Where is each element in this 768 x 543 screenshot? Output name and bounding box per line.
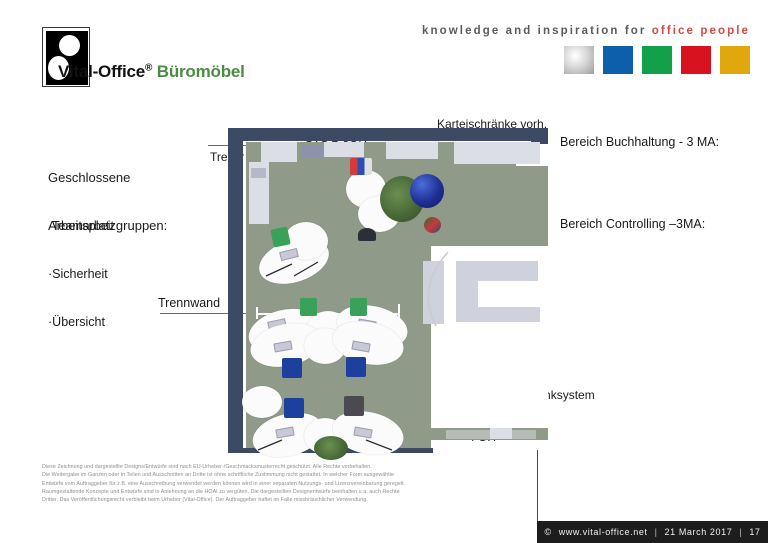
- tagline-accent: office people: [652, 25, 750, 37]
- bullet-uebersicht: ·Übersicht: [48, 314, 114, 330]
- swatch-green: [642, 46, 672, 74]
- desk-round-side: [242, 386, 282, 418]
- floor-plan-drawing: [228, 128, 548, 463]
- statusbar-separator-2: |: [739, 527, 742, 537]
- footer-divider: [537, 450, 538, 522]
- bullet-teamarbeit: ·Teamarbeit: [48, 218, 114, 234]
- cabinet-tresor: [261, 142, 297, 162]
- legal-line-5: Dritter. Das Veröffentlichungsrecht verb…: [42, 496, 532, 504]
- wall-top: [228, 128, 548, 141]
- bullet-sicherheit: ·Sicherheit: [48, 266, 114, 282]
- copyright-icon: ©: [544, 527, 551, 537]
- chair-blue-2: [346, 357, 366, 377]
- tagline: knowledge and inspiration for office peo…: [422, 25, 750, 37]
- legal-line-3: Entwürfe vom Auftraggeber für z.B. eine …: [42, 480, 532, 488]
- wall-left-outer: [228, 128, 238, 453]
- chair-dark-center: [358, 228, 376, 241]
- color-swatch-row: [564, 46, 750, 74]
- swatch-red: [681, 46, 711, 74]
- bereich-controlling-label: Bereich Controlling –3MA:: [560, 217, 705, 232]
- cabinet-mid-run: [386, 142, 438, 159]
- chair-grey-1: [344, 396, 364, 416]
- swatch-silver: [564, 46, 594, 74]
- partition-trennwand-start-cap: [256, 307, 258, 319]
- page-number: 17: [749, 527, 760, 537]
- tagline-primary: knowledge and inspiration for: [422, 25, 646, 37]
- curved-partition-icon: [414, 250, 460, 330]
- blue-sphere-icon: [410, 174, 444, 208]
- white-area-lower-right: [431, 324, 548, 428]
- document-date: 21 March 2017: [665, 527, 733, 537]
- chair-blue-1: [282, 358, 302, 378]
- person-marker-icon: [424, 217, 441, 233]
- statusbar-separator-1: |: [655, 527, 658, 537]
- trennwand-label: Trennwand: [158, 296, 220, 310]
- logo-word-vital: Vital-Office: [58, 62, 145, 81]
- monitor-arm-1: [262, 258, 324, 284]
- cabinet-sts-unit: [302, 145, 324, 158]
- legal-disclaimer: Diese Zeichnung und dargestellte Designs…: [42, 463, 532, 504]
- cabinet-printer-run: [324, 142, 364, 157]
- chair-green-2: [300, 298, 317, 316]
- left-heading-line1: Geschlossene: [48, 170, 167, 186]
- legal-line-4: Raumgestaltende Konzepte und Entwürfe si…: [42, 488, 532, 496]
- legal-line-2: Die Weitergabe im Ganzen oder in Teilen …: [42, 471, 532, 479]
- swatch-blue: [603, 46, 633, 74]
- cabinet-left-tall-door: [251, 168, 266, 178]
- left-bullets: ·Teamarbeit ·Sicherheit ·Übersicht: [48, 186, 114, 362]
- logo-wordmark: Vital-Office® Büromöbel: [58, 62, 245, 82]
- slide-page: Vital-Office® Büromöbel knowledge and in…: [0, 0, 768, 543]
- chair-green-1: [270, 226, 290, 247]
- cabinet-karteischraenke: [454, 142, 540, 164]
- swatch-gold: [720, 46, 750, 74]
- legal-line-1: Diese Zeichnung und dargestellte Designs…: [42, 463, 532, 471]
- chair-green-3: [350, 298, 367, 316]
- chair-multicolor: [350, 158, 372, 175]
- bereich-buchhaltung-label: Bereich Buchhaltung - 3 MA:: [560, 135, 719, 150]
- website-url[interactable]: www.vital-office.net: [559, 527, 648, 537]
- mobile-cabinet-unit: [490, 428, 512, 439]
- shelf-right-lower-run: [478, 307, 540, 322]
- footer-statusbar: © www.vital-office.net | 21 March 2017 |…: [537, 521, 768, 543]
- chair-blue-3: [284, 398, 304, 418]
- logo-word-bueromoebel: Büromöbel: [157, 62, 245, 81]
- shelf-right-block: [456, 261, 538, 281]
- plant-bottom: [314, 436, 348, 460]
- logo-registered-icon: ®: [145, 62, 152, 73]
